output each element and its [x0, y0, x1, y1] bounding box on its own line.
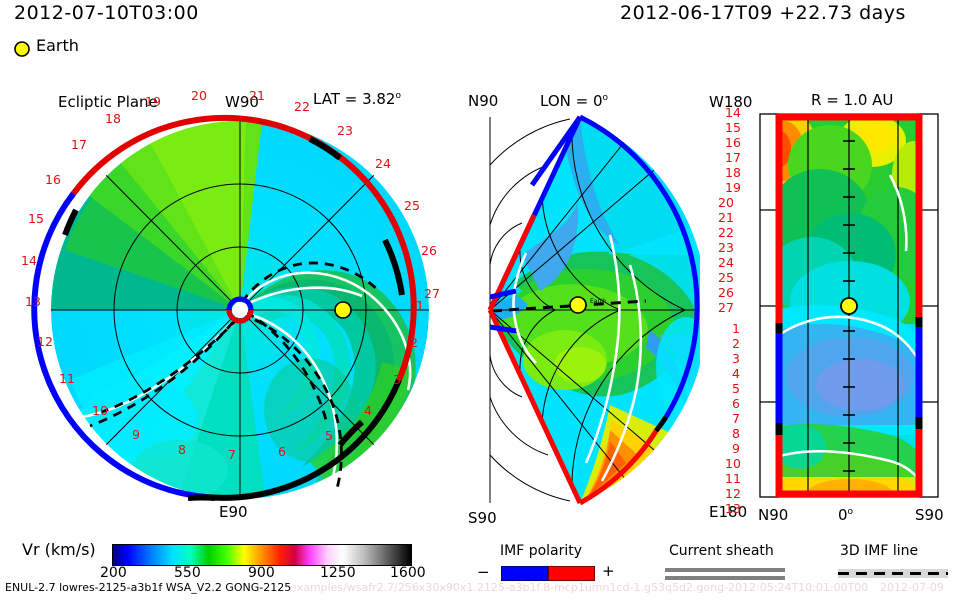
meridional-earth-marker[interactable]	[570, 297, 586, 313]
radial-ytick-24: 11	[725, 473, 741, 486]
footer-watermark-date: 2012-07-09	[880, 582, 944, 593]
meridional-earth-tag: Earth	[590, 298, 606, 305]
imf-line-title: 3D IMF line	[840, 544, 918, 558]
imf-polarity-swatch	[501, 566, 595, 581]
colorbar-tick-1: 550	[174, 566, 201, 580]
colorbar-tick-0: 200	[100, 566, 127, 580]
radial-ytick-9: 23	[718, 242, 734, 255]
radial-ytick-21: 8	[732, 428, 740, 441]
imf-polarity-title: IMF polarity	[500, 544, 582, 558]
imf-polarity-minus: −	[477, 565, 490, 580]
radial-ytick-10: 24	[718, 257, 734, 270]
colorbar-tick-3: 1250	[320, 566, 356, 580]
radial-xtick-s90: S90	[915, 508, 944, 523]
meridional-plane-plot[interactable]: Earth	[460, 105, 700, 505]
footer-watermark: examples/wsafr2.7/256x30x90x1.2125-a3b1f…	[290, 582, 868, 593]
radial-ytick-14: 1	[732, 323, 740, 336]
current-sheath-title: Current sheath	[669, 544, 774, 558]
radial-ytick-1: 15	[725, 122, 741, 135]
radial-ytick-25: 12	[725, 488, 741, 501]
colorbar-tick-2: 900	[248, 566, 275, 580]
radial-ytick-3: 17	[725, 152, 741, 165]
radial-ytick-7: 21	[718, 212, 734, 225]
radial-ytick-20: 7	[732, 413, 740, 426]
radial-ytick-5: 19	[725, 182, 741, 195]
imf-polarity-plus: +	[602, 564, 615, 579]
meridional-s90-label: S90	[468, 511, 497, 526]
radial-y-tick-labels: 14 15 16 17 18 19 20 21 22 23 24 25 26 2…	[700, 105, 760, 505]
radial-xtick-zero: 0o	[838, 508, 853, 523]
radial-ytick-18: 5	[732, 383, 740, 396]
radial-ytick-26: 13	[725, 503, 741, 516]
colorbar-ticks: 200 550 900 1250 1600	[0, 0, 460, 600]
radial-ytick-4: 18	[725, 167, 741, 180]
radial-ytick-0: 14	[725, 107, 741, 120]
colorbar-tick-4: 1600	[390, 566, 426, 580]
radial-ytick-22: 9	[732, 443, 740, 456]
radial-ytick-8: 22	[718, 227, 734, 240]
current-sheath-swatch	[665, 566, 785, 581]
imf-line-swatch	[838, 566, 948, 581]
radial-ytick-23: 10	[725, 458, 741, 471]
radial-ytick-15: 2	[732, 338, 740, 351]
radial-ytick-17: 4	[732, 368, 740, 381]
radial-ytick-11: 25	[718, 272, 734, 285]
radial-ytick-6: 20	[718, 197, 734, 210]
run-start-label: 2012-06-17T09 +22.73 days	[620, 4, 906, 23]
radial-ytick-12: 26	[718, 287, 734, 300]
radial-ytick-19: 6	[732, 398, 740, 411]
radial-ytick-13: 27	[718, 302, 734, 315]
footer-run-id: ENUL-2.7 lowres-2125-a3b1f WSA_V2.2 GONG…	[5, 582, 293, 593]
radial-earth-marker[interactable]	[841, 298, 857, 314]
radial-ytick-2: 16	[725, 137, 741, 150]
radial-ytick-16: 3	[732, 353, 740, 366]
radial-xtick-n90: N90	[758, 508, 788, 523]
